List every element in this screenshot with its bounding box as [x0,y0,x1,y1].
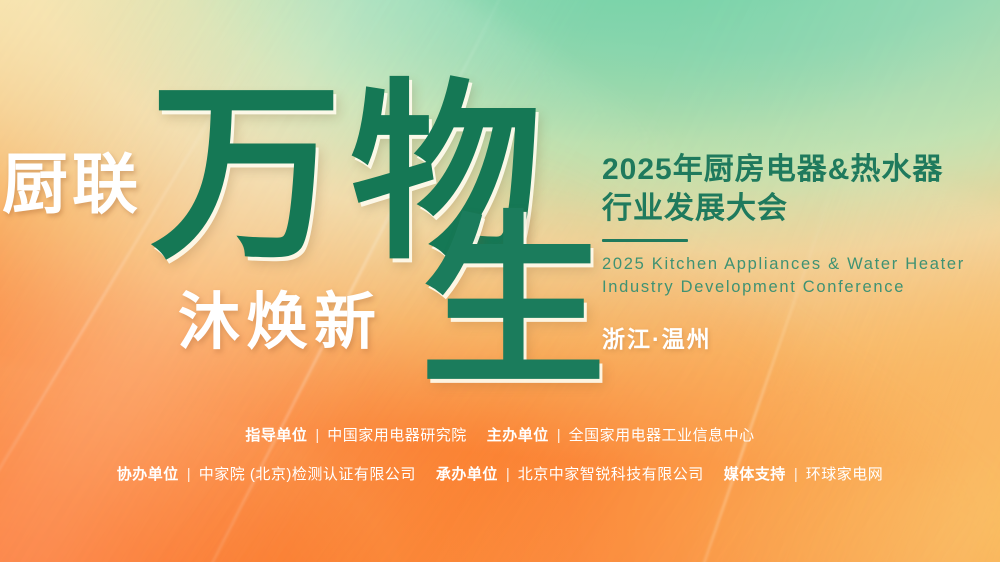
brand-mark-chulian: 厨联 [2,151,142,217]
conference-key-visual-poster: 厨联 万物 生 沐焕新 2025年厨房电器&热水器 行业发展大会 2025 Ki… [0,0,1000,562]
credit-separator: | [187,467,191,482]
event-title-en-line-1: 2025 Kitchen Appliances & Water Heater [602,253,994,276]
credit-group: 媒体支持|环球家电网 [724,467,883,482]
credit-value: 全国家用电器工业信息中心 [569,428,755,443]
credit-label: 指导单位 [245,428,307,443]
event-location: 浙江·温州 [602,328,994,351]
credit-label: 主办单位 [487,428,549,443]
credit-separator: | [506,467,510,482]
credit-group: 主办单位|全国家用电器工业信息中心 [487,428,755,443]
credit-separator: | [315,428,319,443]
credit-label: 承办单位 [436,467,498,482]
event-title-line-1: 2025年厨房电器&热水器 [602,150,994,189]
headline-sheng: 生 [420,212,606,398]
credits-row-primary: 指导单位|中国家用电器研究院主办单位|全国家用电器工业信息中心 [0,428,1000,443]
event-title-line-2: 行业发展大会 [602,189,994,228]
credit-group: 承办单位|北京中家智锐科技有限公司 [436,467,704,482]
credit-group: 指导单位|中国家用电器研究院 [245,428,466,443]
title-divider-rule [602,239,688,242]
credit-label: 媒体支持 [724,467,786,482]
event-title-en-line-2: Industry Development Conference [602,276,994,299]
credit-separator: | [557,428,561,443]
credit-value: 中家院 (北京)检测认证有限公司 [199,467,416,482]
credit-value: 北京中家智锐科技有限公司 [518,467,704,482]
credit-value: 中国家用电器研究院 [327,428,467,443]
credit-group: 协办单位|中家院 (北京)检测认证有限公司 [117,467,416,482]
credit-value: 环球家电网 [806,467,884,482]
credits-row-secondary: 协办单位|中家院 (北京)检测认证有限公司承办单位|北京中家智锐科技有限公司媒体… [0,467,1000,482]
headline-sub-muhuanxin: 沐焕新 [178,292,382,354]
credit-label: 协办单位 [117,467,179,482]
credit-separator: | [794,467,798,482]
credits-block: 指导单位|中国家用电器研究院主办单位|全国家用电器工业信息中心 协办单位|中家院… [0,428,1000,482]
event-title-block: 2025年厨房电器&热水器 行业发展大会 2025 Kitchen Applia… [602,150,994,351]
